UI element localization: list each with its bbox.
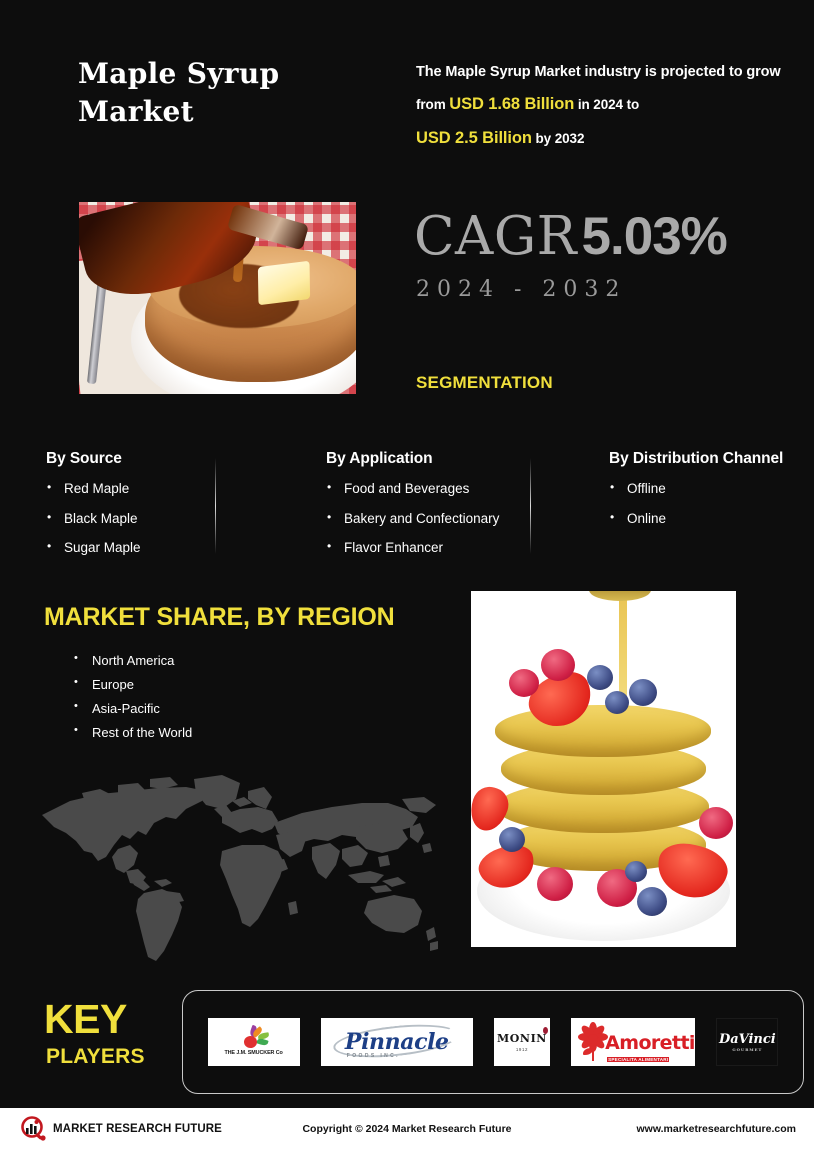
key-players-label: KEY PLAYERS: [44, 1000, 145, 1069]
logo-smucker[interactable]: THE J.M. SMUCKER Co: [208, 1018, 300, 1066]
pinnacle-wordmark: Pinnacle: [345, 1029, 449, 1055]
cagr-label: CAGR: [414, 206, 577, 267]
raspberry: [509, 669, 539, 697]
segment-item: Offline: [609, 482, 786, 496]
butter-pat: [258, 261, 310, 306]
cagr-block: CAGR 5.03%: [414, 206, 727, 267]
pancake-berries-photo: [471, 591, 736, 947]
segment-item: Bakery and Confectionary: [326, 512, 574, 526]
blueberry: [637, 887, 667, 916]
footer-bar: MARKET RESEARCH FUTURE Copyright © 2024 …: [0, 1108, 814, 1150]
column-divider: [215, 458, 216, 554]
segment-heading-distribution: By Distribution Channel: [609, 450, 786, 468]
cagr-year-range: 2024 - 2032: [416, 277, 626, 302]
forecast-from-label: from: [416, 97, 449, 112]
column-divider: [530, 458, 531, 554]
forecast-end-label: by 2032: [532, 131, 585, 146]
segment-item: Online: [609, 512, 786, 526]
infographic-poster: Maple Syrup Market The Maple Syrup Marke…: [0, 0, 814, 1150]
logo-monin[interactable]: MONIN 1912: [494, 1018, 550, 1066]
segmentation-heading: SEGMENTATION: [416, 373, 553, 393]
davinci-wordmark: DaVinci GOURMET: [719, 1033, 776, 1052]
market-share-heading: MARKET SHARE, BY REGION: [44, 603, 395, 632]
logo-pinnacle[interactable]: Pinnacle FOODS INC.: [321, 1018, 473, 1066]
page-title: Maple Syrup Market: [78, 55, 378, 131]
region-item: Asia-Pacific: [72, 701, 192, 716]
pancake-layer: [495, 705, 711, 757]
segment-item: Flavor Enhancer: [326, 541, 574, 555]
logo-amoretti[interactable]: Amoretti SPECIALITA ALIMENTARI: [571, 1018, 695, 1066]
footer-logo[interactable]: MARKET RESEARCH FUTURE: [20, 1116, 222, 1142]
world-map: [26, 765, 446, 980]
davinci-subtext: GOURMET: [719, 1048, 776, 1052]
blueberry: [625, 861, 647, 882]
forecast-value-2032: USD 2.5 Billion: [416, 129, 532, 147]
smucker-fruit-icon: [237, 1028, 271, 1048]
pancake-syrup-photo: [79, 202, 356, 394]
market-forecast-statement: The Maple Syrup Market industry is proje…: [416, 58, 796, 155]
blueberry: [605, 691, 629, 714]
forecast-line-1: The Maple Syrup Market industry is proje…: [416, 64, 781, 80]
blueberry: [629, 679, 657, 706]
segment-item: Black Maple: [46, 512, 284, 526]
footer-website-url[interactable]: www.marketresearchfuture.com: [636, 1123, 796, 1135]
segment-heading-source: By Source: [46, 450, 284, 468]
raspberry: [537, 867, 573, 901]
monin-leaf-icon: [543, 1027, 548, 1034]
syrup-ladle: [589, 591, 651, 601]
mrf-magnifier-chart-icon: [20, 1116, 46, 1142]
region-item: Europe: [72, 677, 192, 692]
syrup-stream: [619, 591, 627, 701]
raspberry: [541, 649, 575, 681]
footer-copyright: Copyright © 2024 Market Research Future: [302, 1123, 511, 1135]
raspberry: [699, 807, 733, 839]
region-list: North America Europe Asia-Pacific Rest o…: [72, 653, 192, 749]
logo-davinci[interactable]: DaVinci GOURMET: [716, 1018, 778, 1066]
segmentation-column-distribution: By Distribution Channel Offline Online: [574, 450, 786, 571]
smucker-wordmark: THE J.M. SMUCKER Co: [224, 1050, 282, 1056]
region-item: Rest of the World: [72, 725, 192, 740]
key-players-line1: KEY: [44, 1000, 145, 1039]
key-players-line2: PLAYERS: [46, 1045, 145, 1069]
monin-wordmark: MONIN: [497, 1032, 547, 1045]
segment-item: Red Maple: [46, 482, 284, 496]
pinnacle-subtext: FOODS INC.: [347, 1053, 400, 1059]
forecast-mid-label: in 2024 to: [574, 97, 639, 112]
segmentation-columns: By Source Red Maple Black Maple Sugar Ma…: [46, 450, 786, 571]
blueberry: [587, 665, 613, 690]
cagr-value: 5.03%: [582, 207, 727, 266]
segment-item: Food and Beverages: [326, 482, 574, 496]
amoretti-wordmark: Amoretti: [605, 1032, 695, 1054]
region-item: North America: [72, 653, 192, 668]
segment-heading-application: By Application: [326, 450, 574, 468]
segment-item: Sugar Maple: [46, 541, 284, 555]
footer-brand-name: MARKET RESEARCH FUTURE: [53, 1123, 222, 1135]
blueberry: [499, 827, 525, 852]
amoretti-subtext: SPECIALITA ALIMENTARI: [607, 1057, 669, 1062]
key-players-logo-container: THE J.M. SMUCKER Co Pinnacle FOODS INC. …: [182, 990, 804, 1094]
segmentation-column-source: By Source Red Maple Black Maple Sugar Ma…: [46, 450, 284, 571]
monin-year: 1912: [516, 1047, 528, 1052]
forecast-value-2024: USD 1.68 Billion: [449, 95, 574, 113]
